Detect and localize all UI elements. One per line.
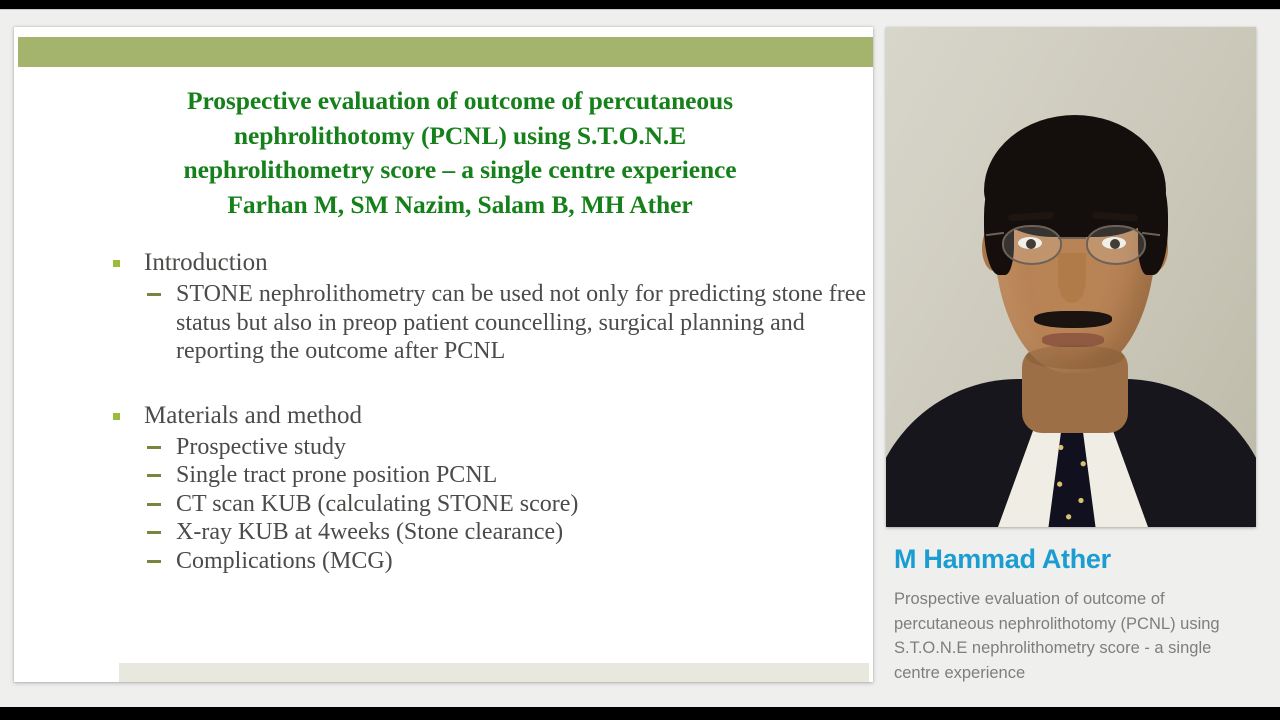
slide-title-line-3: nephrolithometry score – a single centre… [60, 153, 860, 188]
player-stage: Prospective evaluation of outcome of per… [0, 9, 1280, 707]
photo-hair-side-right [1138, 177, 1168, 275]
letterbox-top-bar [0, 0, 1280, 9]
list-item: STONE nephrolithometry can be used not o… [14, 280, 873, 366]
list-item-label: Single tract prone position PCNL [176, 462, 497, 488]
photo-hair-side-left [984, 177, 1014, 275]
section-heading-label: Materials and method [144, 402, 362, 429]
square-bullet-icon [113, 260, 120, 267]
list-item: X-ray KUB at 4weeks (Stone clearance) [14, 518, 873, 547]
photo-chin-shadow [1026, 345, 1124, 369]
list-item-label: CT scan KUB (calculating STONE score) [176, 491, 578, 517]
list-item: Single tract prone position PCNL [14, 461, 873, 490]
dash-bullet-icon [147, 446, 161, 449]
letterbox-bottom-bar [0, 707, 1280, 720]
section-heading-row: Introduction [14, 247, 873, 280]
presentation-player: Prospective evaluation of outcome of per… [0, 0, 1280, 720]
photo-eyeglass-bridge [1058, 237, 1086, 239]
dash-bullet-icon [147, 531, 161, 534]
dash-bullet-icon [147, 474, 161, 477]
list-item: Complications (MCG) [14, 547, 873, 576]
section-heading-row: Materials and method [14, 400, 873, 433]
speaker-name: M Hammad Ather [894, 543, 1250, 575]
section-spacer [14, 366, 873, 400]
section-heading-label: Introduction [144, 249, 268, 276]
photo-eyeglass-lens-left [1002, 225, 1062, 265]
square-bullet-icon [113, 413, 120, 420]
speaker-meta: M Hammad Ather Prospective evaluation of… [894, 543, 1250, 685]
speaker-sidebar: M Hammad Ather Prospective evaluation of… [886, 27, 1256, 708]
list-item: CT scan KUB (calculating STONE score) [14, 490, 873, 519]
dash-bullet-icon [147, 560, 161, 563]
talk-description: Prospective evaluation of outcome of per… [894, 587, 1242, 685]
photo-mustache-shape [1034, 311, 1112, 328]
photo-nose-shape [1058, 253, 1086, 303]
list-item-label: Prospective study [176, 434, 346, 460]
slide-title-authors: Farhan M, SM Nazim, Salam B, MH Ather [60, 188, 860, 223]
slide-title: Prospective evaluation of outcome of per… [60, 84, 860, 222]
slide-accent-bar [18, 37, 873, 67]
dash-bullet-icon [147, 503, 161, 506]
slide-body: Introduction STONE nephrolithometry can … [14, 247, 873, 575]
list-item-label: Complications (MCG) [176, 548, 393, 574]
slide-section-introduction: Introduction STONE nephrolithometry can … [14, 247, 873, 366]
slide-panel[interactable]: Prospective evaluation of outcome of per… [14, 27, 873, 682]
slide-title-line-2: nephrolithotomy (PCNL) using S.T.O.N.E [60, 119, 860, 154]
dash-bullet-icon [147, 293, 161, 296]
list-item-label: STONE nephrolithometry can be used not o… [176, 281, 866, 364]
list-item-label: X-ray KUB at 4weeks (Stone clearance) [176, 519, 563, 545]
slide-footer-band [119, 663, 869, 682]
speaker-portrait-photo [886, 27, 1256, 527]
list-item: Prospective study [14, 433, 873, 462]
photo-eyeglass-lens-right [1086, 225, 1146, 265]
slide-title-line-1: Prospective evaluation of outcome of per… [60, 84, 860, 119]
slide-section-materials-and-method: Materials and method Prospective study S… [14, 400, 873, 576]
